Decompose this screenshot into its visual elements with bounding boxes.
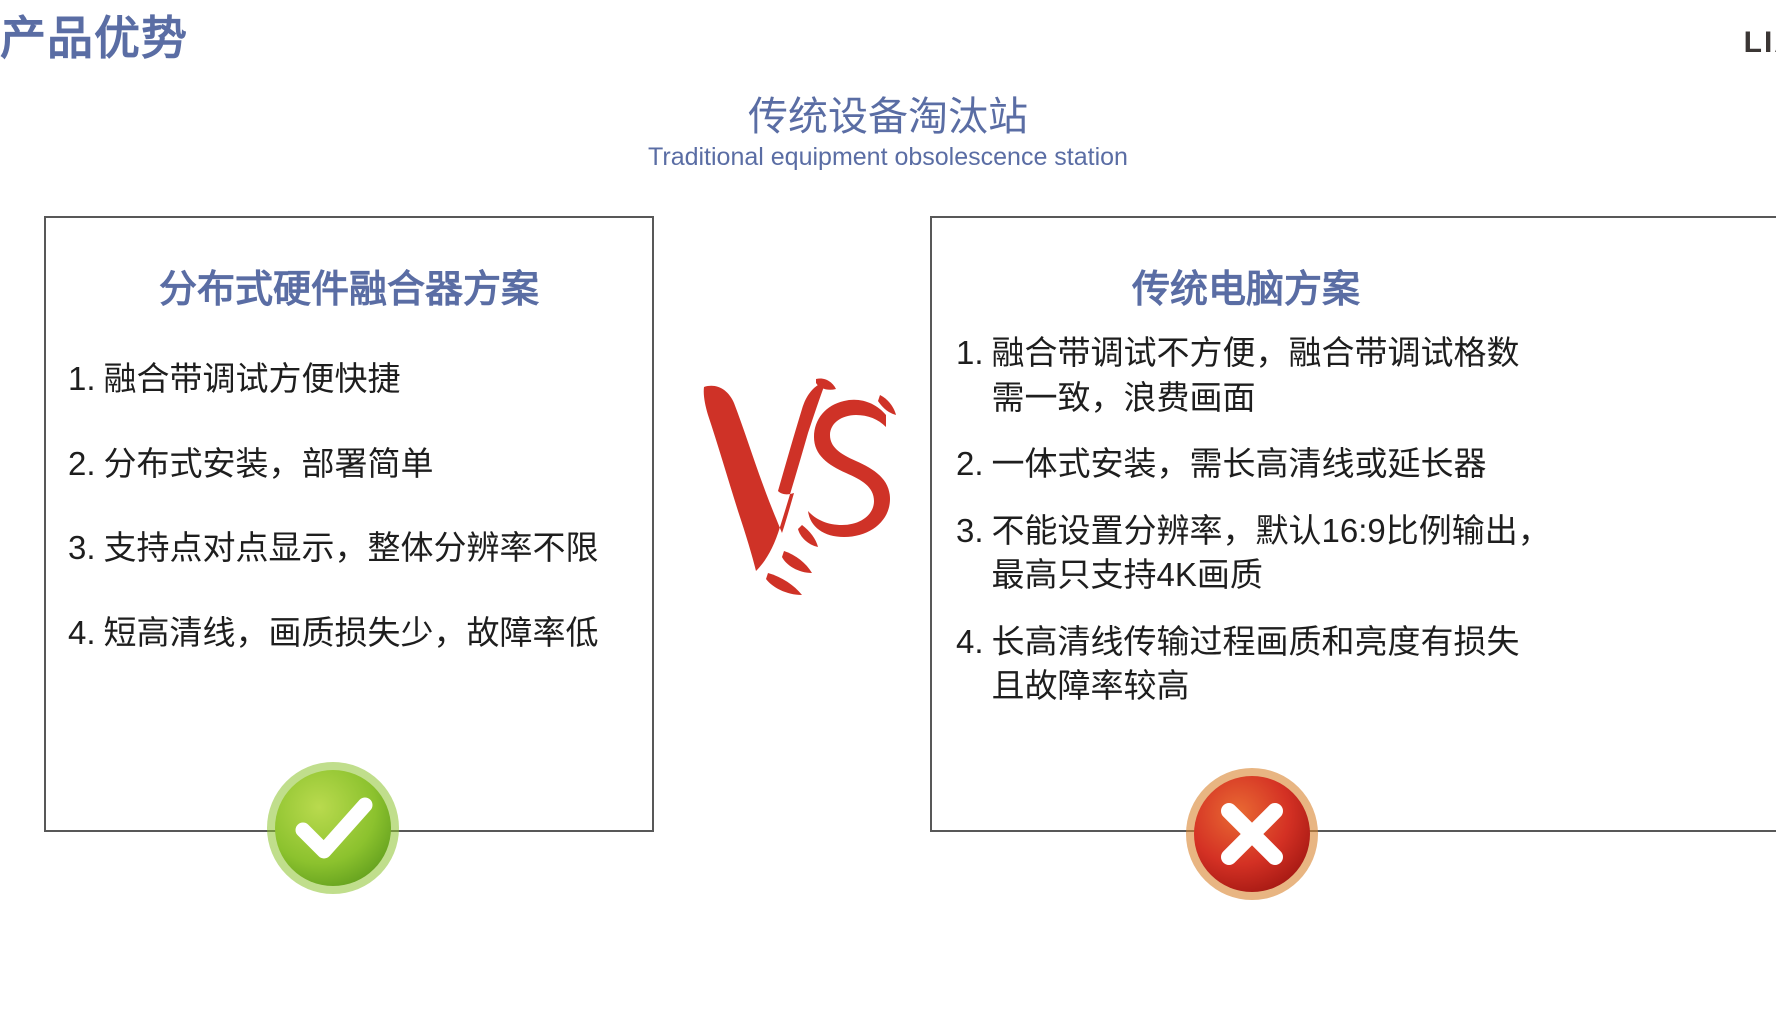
list-item-text: 短高清线，画质损失少，故障率低 [104, 611, 652, 656]
page-title: 产品优势 [0, 2, 188, 68]
vs-icon [690, 375, 900, 615]
list-item-number: 4. [956, 620, 984, 665]
list-item-text: 长高清线传输过程画质和亮度有损失 且故障率较高 [992, 620, 1776, 709]
cross-badge [1184, 766, 1320, 902]
center-heading: 传统设备淘汰站 Traditional equipment obsolescen… [0, 96, 1776, 170]
list-item-text: 一体式安装，需长高清线或延长器 [992, 442, 1776, 487]
center-heading-cn: 传统设备淘汰站 [0, 96, 1776, 138]
list-item: 3. 支持点对点显示，整体分辨率不限 [68, 526, 652, 571]
list-item-text: 分布式安装，部署简单 [104, 442, 652, 487]
panel-left-item-list: 1. 融合带调试方便快捷 2. 分布式安装，部署简单 3. 支持点对点显示，整体… [46, 357, 652, 655]
list-item: 1. 融合带调试方便快捷 [68, 357, 652, 402]
panel-right-item-list: 1. 融合带调试不方便，融合带调试格数 需一致，浪费画面 2. 一体式安装，需长… [932, 331, 1776, 709]
list-item-text: 融合带调试方便快捷 [104, 357, 652, 402]
panel-distributed-solution: 分布式硬件融合器方案 1. 融合带调试方便快捷 2. 分布式安装，部署简单 3.… [44, 216, 654, 832]
list-item-number: 1. [956, 331, 984, 376]
list-item: 1. 融合带调试不方便，融合带调试格数 需一致，浪费画面 [956, 331, 1776, 420]
list-item-text: 不能设置分辨率，默认16:9比例输出， 最高只支持4K画质 [992, 509, 1776, 598]
panel-traditional-solution: 传统电脑方案 1. 融合带调试不方便，融合带调试格数 需一致，浪费画面 2. 一… [930, 216, 1776, 832]
list-item-number: 2. [956, 442, 984, 487]
list-item-number: 3. [956, 509, 984, 554]
list-item: 2. 分布式安装，部署简单 [68, 442, 652, 487]
list-item: 4. 长高清线传输过程画质和亮度有损失 且故障率较高 [956, 620, 1776, 709]
brand-logo: LIA [1744, 26, 1776, 60]
list-item: 4. 短高清线，画质损失少，故障率低 [68, 611, 652, 656]
list-item-number: 1. [68, 357, 96, 402]
list-item-number: 4. [68, 611, 96, 656]
panel-left-title: 分布式硬件融合器方案 [46, 258, 652, 313]
list-item-number: 3. [68, 526, 96, 571]
list-item-number: 2. [68, 442, 96, 487]
list-item: 2. 一体式安装，需长高清线或延长器 [956, 442, 1776, 487]
check-badge [265, 760, 401, 896]
panel-right-title: 传统电脑方案 [932, 258, 1776, 313]
list-item: 3. 不能设置分辨率，默认16:9比例输出， 最高只支持4K画质 [956, 509, 1776, 598]
list-item-text: 融合带调试不方便，融合带调试格数 需一致，浪费画面 [992, 331, 1776, 420]
center-heading-en: Traditional equipment obsolescence stati… [0, 144, 1776, 170]
list-item-text: 支持点对点显示，整体分辨率不限 [104, 526, 652, 571]
